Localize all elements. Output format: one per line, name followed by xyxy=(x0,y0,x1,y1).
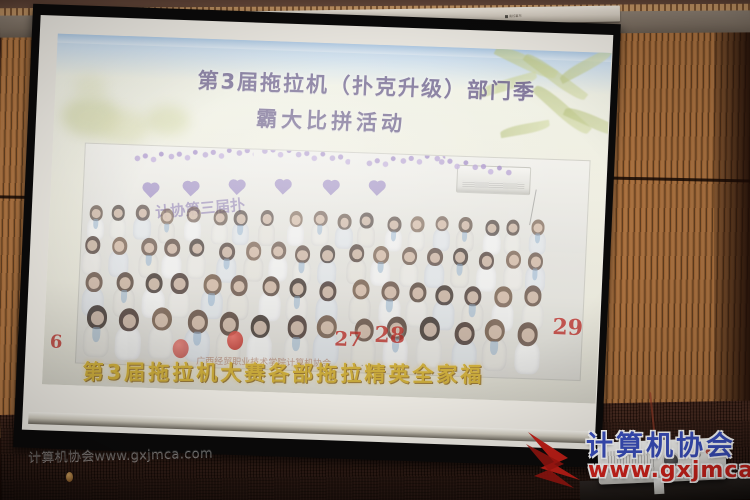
photo-person-face xyxy=(122,314,136,328)
photo-person-face xyxy=(249,246,260,257)
photo-person-face xyxy=(384,286,396,298)
photo-person-scarf xyxy=(92,327,100,342)
photo-person-face xyxy=(404,251,415,262)
projected-slide: 第3届拖拉机（扑克升级）部门季 霸大比拼活动 xyxy=(42,34,612,404)
projector-button[interactable] xyxy=(686,449,691,454)
slide-number-6: 6 xyxy=(49,332,62,353)
photo-person-face xyxy=(530,257,541,268)
slide-number-29: 29 xyxy=(552,314,584,341)
screen-pull-knob[interactable] xyxy=(66,472,73,482)
photo-person-face xyxy=(508,223,517,233)
projector-power-button[interactable] xyxy=(706,449,711,454)
projector-lens xyxy=(662,451,681,470)
heart-icon xyxy=(184,182,198,196)
photo-crowd xyxy=(77,198,587,364)
photo-person-face xyxy=(88,277,100,289)
photo-person-face xyxy=(119,277,131,289)
heart-icon xyxy=(144,184,158,198)
heart-icon xyxy=(370,182,384,196)
roller-casing-label: 遥控幕布 xyxy=(505,14,522,18)
photo-person-face xyxy=(423,323,437,337)
screenshot-root: 遥控幕布 第3届拖拉机（扑克升级）部门季 霸大比拼活动 xyxy=(0,0,750,500)
photo-person-face xyxy=(488,325,502,339)
photo-person-face xyxy=(222,247,233,258)
photo-person-scarf xyxy=(237,225,243,235)
projector-button[interactable] xyxy=(696,452,701,457)
photo-person-face xyxy=(192,243,203,254)
photo-person-face xyxy=(292,283,304,295)
photo-person-face xyxy=(481,256,492,267)
photo-person-face xyxy=(253,320,267,334)
photo-person-face xyxy=(297,250,308,261)
photo-person-face xyxy=(322,286,334,298)
photo-person-face xyxy=(508,255,519,266)
group-photo: 计协第三届扑 广西经贸职业技术学院计算机协会 xyxy=(75,143,591,381)
heart-icon xyxy=(324,181,338,195)
slide-number-28: 28 xyxy=(374,322,406,349)
photo-person-face xyxy=(437,220,446,230)
slide-number-27: 27 xyxy=(334,326,363,351)
roller-label-icon xyxy=(505,15,508,18)
photo-person-scarf xyxy=(534,234,540,244)
photo-person-face xyxy=(236,214,245,224)
photo-person-face xyxy=(291,215,300,225)
slide-calligraphy-caption: 第3届拖拉机大赛各部拖拉精英全家福 xyxy=(82,356,543,389)
heart-icon xyxy=(230,181,244,195)
photo-person-face xyxy=(191,316,205,330)
screen-white-surface: 第3届拖拉机（扑克升级）部门季 霸大比拼活动 xyxy=(22,15,613,450)
photo-balloon xyxy=(227,331,244,351)
photo-person-face xyxy=(533,223,542,233)
projector-stand-foot xyxy=(654,478,665,495)
photo-person-face xyxy=(322,250,333,261)
projection-screen: 第3届拖拉机（扑克升级）部门季 霸大比拼活动 xyxy=(13,4,621,468)
heart-icon xyxy=(276,181,290,195)
